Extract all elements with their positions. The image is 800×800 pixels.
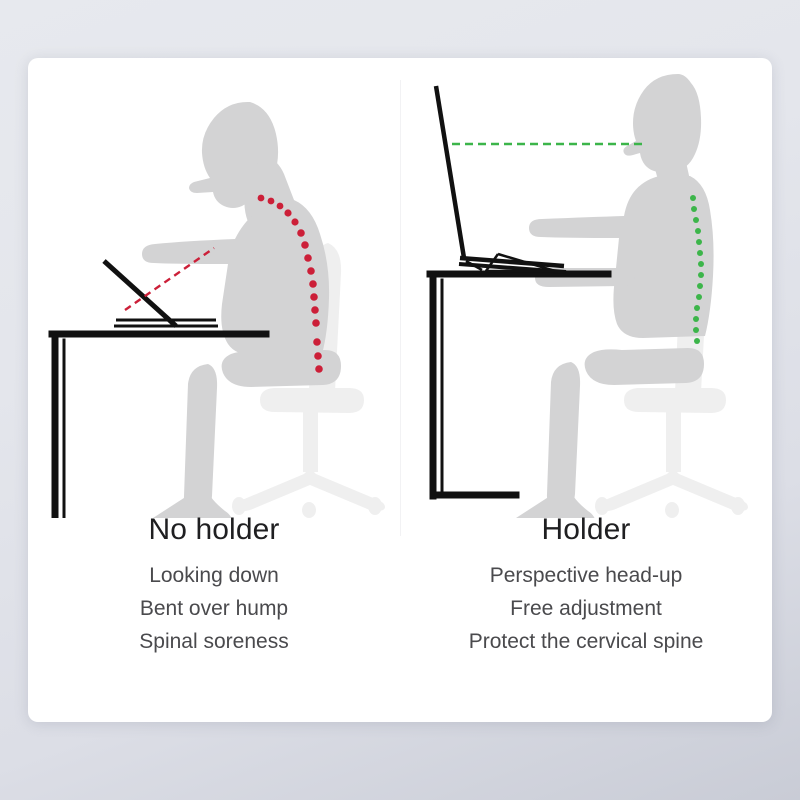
captions-no-holder: No holder Looking down Bent over hump Sp…	[28, 513, 400, 658]
spine-dot	[696, 294, 702, 300]
spine-dot	[307, 267, 315, 275]
bullet-item: Bent over hump	[28, 593, 400, 626]
desk-right	[430, 274, 608, 496]
illustration-no-holder	[28, 58, 400, 518]
thigh	[222, 350, 341, 387]
spine-dot	[695, 228, 701, 234]
spine-dot	[698, 261, 704, 267]
torso-and-arm	[529, 176, 714, 338]
bullet-item: Looking down	[28, 560, 400, 593]
chair-seat	[260, 388, 364, 413]
spine-dot	[304, 254, 312, 262]
panel-no-holder: No holder Looking down Bent over hump Sp…	[28, 58, 400, 722]
comparison-card: No holder Looking down Bent over hump Sp…	[28, 58, 772, 722]
spine-dot	[284, 209, 291, 216]
spine-dot	[693, 316, 699, 322]
chair-post	[666, 410, 681, 472]
bullet-item: Free adjustment	[400, 593, 772, 626]
spine-dot	[693, 217, 699, 223]
laptop-screen	[104, 261, 176, 326]
thigh	[585, 348, 704, 385]
spine-dot	[694, 338, 700, 344]
panel-heading-no-holder: No holder	[28, 513, 400, 546]
illustration-holder	[400, 58, 772, 518]
captions-holder: Holder Perspective head-up Free adjustme…	[400, 513, 772, 658]
shin	[547, 362, 580, 508]
laptop-screen	[436, 86, 464, 258]
chair-post	[303, 410, 318, 472]
spine-dot	[291, 218, 298, 225]
laptop-on-stand	[436, 86, 566, 272]
spine-dot	[311, 306, 319, 314]
spine-dot	[277, 203, 284, 210]
spine-dot	[697, 283, 703, 289]
bullet-item: Spinal soreness	[28, 626, 400, 659]
spine-dot	[698, 272, 704, 278]
spine-dot	[694, 305, 700, 311]
spine-dot	[696, 239, 702, 245]
shin	[184, 364, 217, 510]
spine-dot	[691, 206, 697, 212]
bullet-list-no-holder: Looking down Bent over hump Spinal soren…	[28, 560, 400, 658]
chair-seat	[624, 388, 726, 413]
person-silhouette-upright	[508, 74, 714, 518]
spine-dot	[315, 365, 323, 373]
laptop-flat	[104, 261, 218, 326]
bullet-item: Perspective head-up	[400, 560, 772, 593]
spine-dot	[310, 293, 318, 301]
illustration-canvas: No holder Looking down Bent over hump Sp…	[0, 0, 800, 800]
spine-dot	[301, 241, 309, 249]
spine-dot	[690, 195, 696, 201]
spine-dot	[309, 280, 317, 288]
spine-dot	[258, 195, 265, 202]
spine-dot	[268, 198, 275, 205]
bullet-item: Protect the cervical spine	[400, 626, 772, 659]
spine-dot	[697, 250, 703, 256]
spine-dot	[693, 327, 699, 333]
bullet-list-holder: Perspective head-up Free adjustment Prot…	[400, 560, 772, 658]
spine-dot	[314, 352, 322, 360]
spine-dot	[297, 229, 305, 237]
spine-dot	[313, 338, 321, 346]
spine-dot	[312, 319, 320, 327]
panel-heading-holder: Holder	[400, 513, 772, 546]
panel-holder: Holder Perspective head-up Free adjustme…	[400, 58, 772, 722]
